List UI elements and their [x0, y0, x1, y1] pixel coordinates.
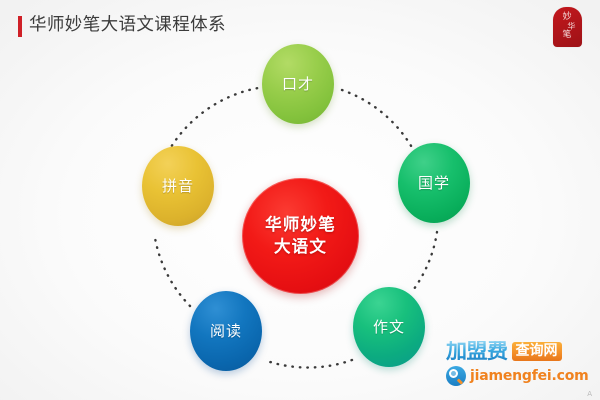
seal-logo-glyph: 妙 华 笔 — [553, 7, 582, 47]
title-accent-bar — [18, 16, 22, 37]
node-zw[interactable]: 作文 — [353, 287, 425, 367]
watermark-brand-row: 加盟费 查询网 — [446, 340, 594, 363]
slide-canvas: 华师妙笔大语文课程体系 妙 华 笔 — [0, 0, 600, 400]
node-zw-label: 作文 — [373, 319, 405, 336]
node-yd-label: 阅读 — [210, 323, 242, 340]
node-kc-label: 口才 — [282, 76, 314, 93]
search-icon — [446, 366, 466, 386]
watermark: 加盟费 查询网 jiamengfei.com — [446, 340, 594, 388]
watermark-url-row: jiamengfei.com — [446, 365, 594, 386]
node-center-label: 华师妙笔 大语文 — [265, 216, 336, 255]
node-center-line1: 华师妙笔 — [265, 216, 336, 234]
corner-mark: A — [587, 390, 592, 398]
node-py[interactable]: 拼音 — [142, 146, 214, 226]
node-gx[interactable]: 国学 — [398, 143, 470, 223]
node-center-hub[interactable]: 华师妙笔 大语文 — [242, 178, 359, 294]
page-title: 华师妙笔大语文课程体系 — [18, 13, 226, 39]
node-py-label: 拼音 — [162, 178, 194, 195]
node-center-line2: 大语文 — [265, 238, 336, 256]
search-icon-handle — [457, 378, 463, 384]
search-icon-lens — [449, 369, 458, 378]
seal-logo: 妙 华 笔 — [553, 7, 582, 47]
watermark-brand-text: 加盟费 — [446, 341, 508, 362]
seal-char-3: 笔 — [553, 30, 582, 41]
node-kc[interactable]: 口才 — [262, 44, 334, 124]
title-text: 华师妙笔大语文课程体系 — [29, 17, 226, 35]
watermark-url-text: jiamengfei.com — [470, 368, 589, 384]
node-gx-label: 国学 — [418, 175, 450, 192]
watermark-tag-badge: 查询网 — [512, 342, 562, 361]
node-yd[interactable]: 阅读 — [190, 291, 262, 371]
